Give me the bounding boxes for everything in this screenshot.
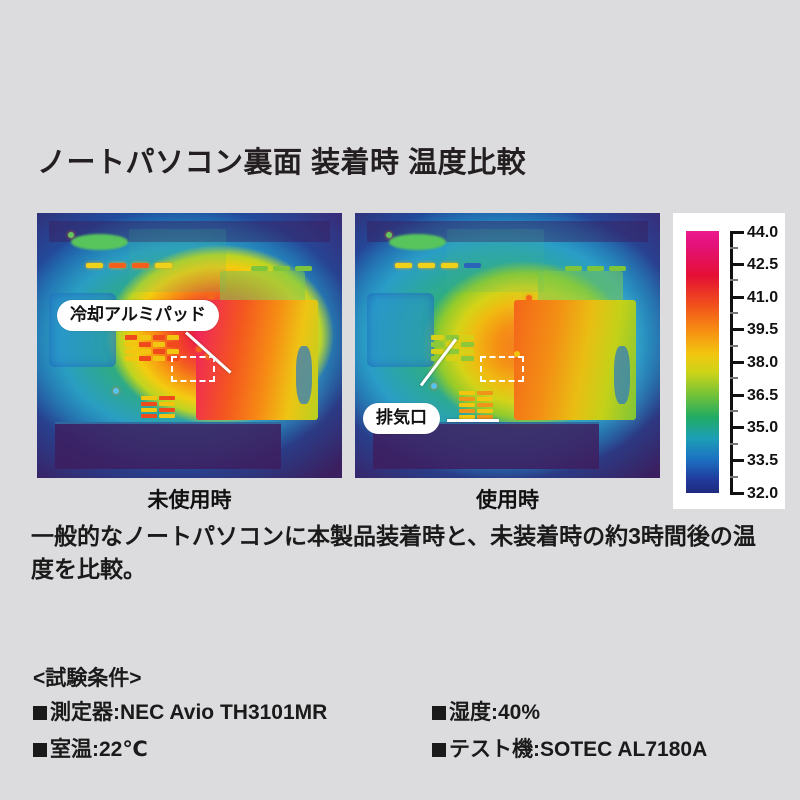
grid-cell [461,356,474,361]
screw-point [526,295,532,301]
grid-cell [159,408,175,412]
callout-cooling-pad: 冷却アルミパッド [57,300,219,331]
colorbar-tick-minor [730,279,738,281]
test-conditions-grid: 測定器:NEC Avio TH3101MR 室温:22℃ 湿度:40% テスト機… [33,696,778,772]
grid-cell [459,409,475,413]
condition-text: 室温:22℃ [50,738,148,761]
grid-cell [141,396,157,400]
grid-cell [139,349,151,354]
grid-cell [167,349,179,354]
vent-dash [464,263,481,268]
square-bullet-icon [432,706,446,720]
colorbar-label: 39.5 [747,321,778,339]
grid-cell [431,342,444,347]
vent-dash [418,263,435,268]
thermal-image-with-product: 排気口 [355,213,660,478]
grid-cell [167,335,179,340]
grid-cell [431,335,444,340]
colorbar-label: 44.0 [747,224,778,242]
grid-cell [477,403,493,407]
vent-dash [155,263,172,268]
vent-dash [395,263,412,268]
screw-dash-row-left [86,263,172,268]
temperature-color-scale: 44.0 42.5 41.0 39.5 38.0 36.5 35.0 33.5 … [673,213,785,509]
grid-cell [139,356,151,361]
grid-cell [153,356,165,361]
measurement-box [480,356,524,382]
comparison-description: 一般的なノートパソコンに本製品装着時と、未装着時の約3時間後の温度を比較。 [31,520,771,585]
grid-cell [153,335,165,340]
colorbar-label: 42.5 [747,256,778,274]
screw-point [208,293,214,299]
grid-cell [139,342,151,347]
vent-dash [565,266,582,271]
condition-item-room-temperature: 室温:22℃ [33,733,148,763]
vent-dash [109,263,126,268]
colorbar-tick-major [730,492,744,495]
colorbar-label: 32.0 [747,485,778,503]
colorbar-tick-minor [730,377,738,379]
callout-leader-line-lower [447,419,499,422]
vent-dash [86,263,103,268]
condition-item-measuring-device: 測定器:NEC Avio TH3101MR [33,696,327,726]
grid-cell [159,414,175,418]
memory-door-panel [129,229,227,293]
grid-cell [459,403,475,407]
colorbar-label: 35.0 [747,419,778,437]
grid-cell [459,397,475,401]
grid-cell [153,349,165,354]
screw-dash-row-right [251,266,312,271]
grid-cell [477,409,493,413]
side-slot-oval [614,346,629,404]
colorbar-label: 36.5 [747,387,778,405]
condition-item-test-machine: テスト機:SOTEC AL7180A [432,733,707,763]
colorbar-tick-major [730,263,744,266]
vent-dash [273,266,290,271]
colorbar-tick-major [730,361,744,364]
grid-cell [159,396,175,400]
colorbar-tick-minor [730,345,738,347]
vent-dash [609,266,626,271]
colorbar-tick-minor [730,247,738,249]
vent-dash [587,266,604,271]
grid-cell [141,414,157,418]
grid-cell [461,349,474,354]
screw-dash-row-left [395,263,481,268]
vent-dash [251,266,268,271]
square-bullet-icon [33,706,47,720]
measurement-box [171,356,215,382]
screw-point [386,232,392,238]
exhaust-vent-grid [141,396,175,418]
battery-bay [55,422,281,469]
colorbar-tick-minor [730,476,738,478]
colorbar-tick-major [730,426,744,429]
grid-cell [141,402,157,406]
test-conditions-heading: <試験条件> [33,662,778,692]
grid-cell [141,408,157,412]
side-slot-oval [296,346,311,404]
colorbar-tick-minor [730,443,738,445]
grid-cell [477,397,493,401]
exhaust-vent-grid [459,391,493,419]
square-bullet-icon [33,743,47,757]
condition-item-humidity: 湿度:40% [432,696,540,726]
vent-dash [441,263,458,268]
condition-text: テスト機:SOTEC AL7180A [449,738,707,761]
screw-point [431,383,437,389]
colorbar-tick-minor [730,312,738,314]
grid-cell [459,391,475,395]
memory-door-panel [447,229,545,293]
caption-with-product: 使用時 [355,484,660,514]
grid-cell [477,391,493,395]
thermal-image-without-product: 冷却アルミパッド [37,213,342,478]
screw-dash-row-right [565,266,626,271]
grid-cell [125,335,137,340]
grid-cell [459,415,475,419]
grid-cell [153,342,165,347]
square-bullet-icon [432,743,446,757]
vent-dash [132,263,149,268]
grid-cell [461,342,474,347]
colorbar-label: 38.0 [747,354,778,372]
callout-exhaust-vent: 排気口 [363,403,440,434]
grid-cell [125,356,137,361]
colorbar-tick-minor [730,410,738,412]
colorbar-label: 41.0 [747,289,778,307]
grid-cell [139,335,151,340]
grid-cell [159,402,175,406]
grid-cell [125,349,137,354]
colorbar-tick-major [730,459,744,462]
grid-cell [446,356,459,361]
caption-without-product: 未使用時 [37,484,342,514]
condition-text: 測定器:NEC Avio TH3101MR [50,701,327,724]
colorbar-tick-major [730,296,744,299]
grid-cell [125,342,137,347]
hdd-bay-plate [367,293,434,367]
grid-cell [167,342,179,347]
screw-point [68,232,74,238]
test-conditions-section: <試験条件> 測定器:NEC Avio TH3101MR 室温:22℃ 湿度:4… [33,662,778,772]
vent-dash [295,266,312,271]
colorbar-tick-major [730,394,744,397]
grid-cell [461,335,474,340]
colorbar-tick-major [730,231,744,234]
colorbar-gradient [686,231,719,493]
grid-cell [477,415,493,419]
colorbar-tick-major [730,328,744,331]
page-title: ノートパソコン裏面 装着時 温度比較 [37,139,526,181]
colorbar-label: 33.5 [747,452,778,470]
condition-text: 湿度:40% [449,701,540,724]
